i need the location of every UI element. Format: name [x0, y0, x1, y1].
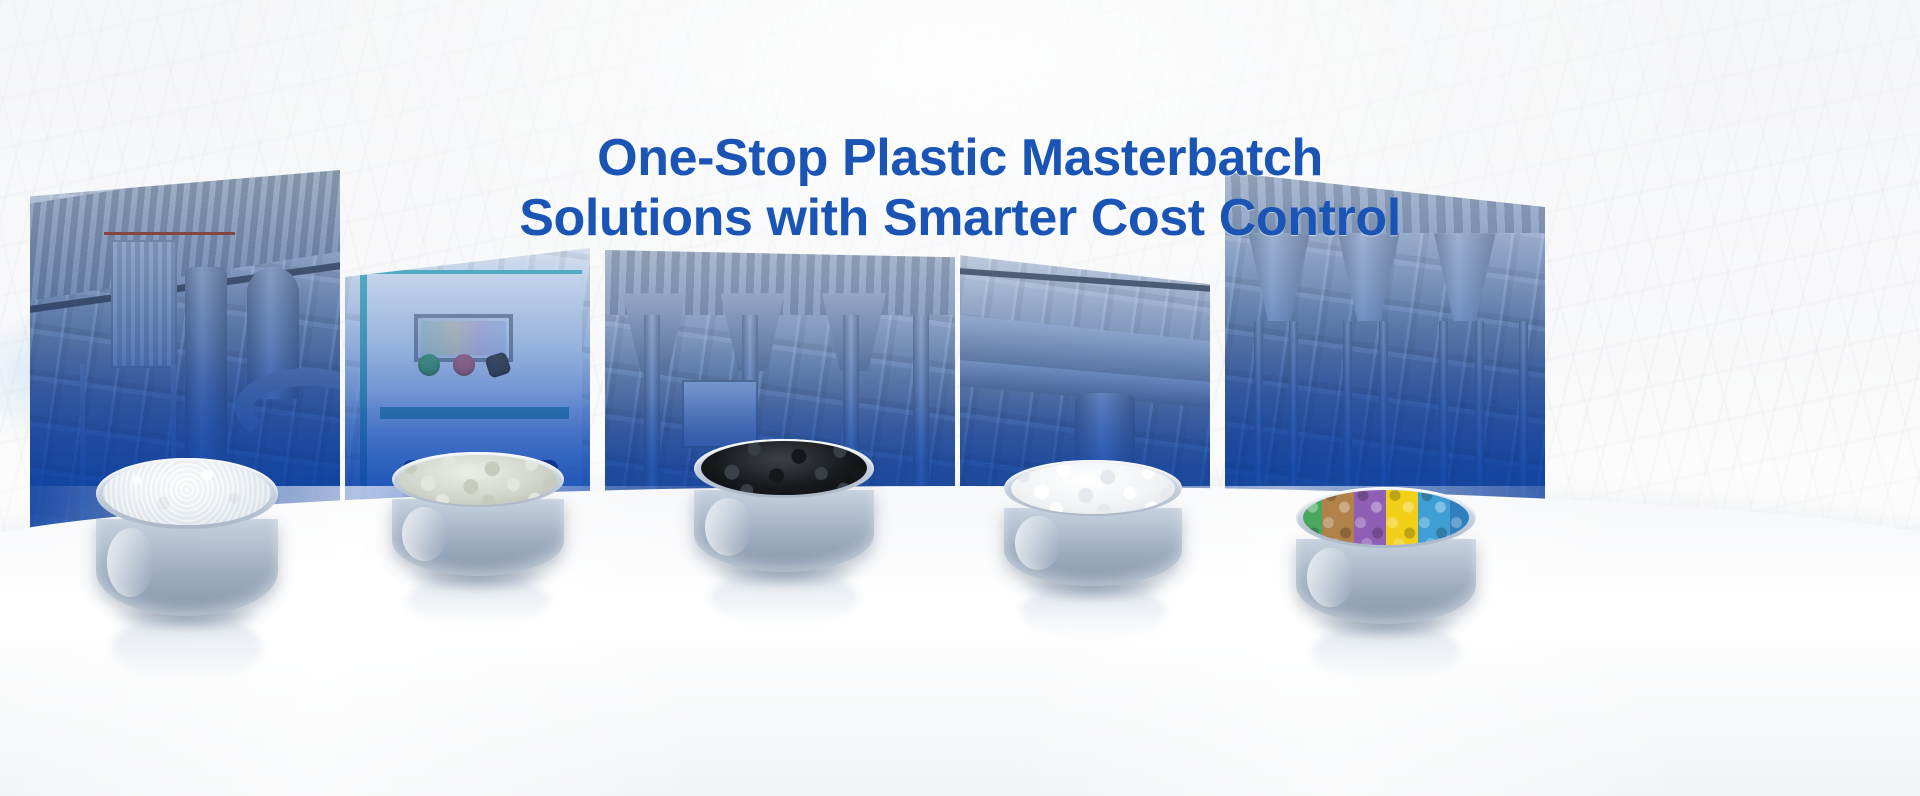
- dish-wall: [694, 490, 874, 572]
- dish-reflection: [112, 614, 261, 681]
- dish-reflection: [407, 575, 548, 628]
- dish-reflection: [1020, 585, 1166, 639]
- dish-grey-filler-pellets: [392, 444, 564, 576]
- black-pellet-content: [701, 441, 867, 495]
- color-stripe-5: [1418, 490, 1450, 545]
- dish-white-powder-filler: [96, 448, 278, 616]
- color-stripe-1: [1303, 490, 1322, 545]
- petri-dish-glass: [392, 444, 564, 576]
- color-stripe-2: [1322, 490, 1354, 545]
- color-stripe-4: [1386, 490, 1418, 545]
- petri-dish-glass: [1296, 478, 1476, 624]
- dish-color-masterbatch-pellets: [1296, 478, 1476, 624]
- dish-wall: [392, 499, 564, 576]
- dish-white-masterbatch-pellets: [1004, 452, 1182, 586]
- petri-dish-glass: [694, 430, 874, 572]
- color-stripe-6: [1450, 490, 1469, 545]
- dish-reflection: [1312, 623, 1460, 681]
- color-pellet-stripes: [1303, 490, 1469, 545]
- headline-line-2: Solutions with Smarter Cost Control: [0, 191, 1920, 245]
- dish-wall: [96, 519, 278, 616]
- page-title: One-Stop Plastic Masterbatch Solutions w…: [0, 131, 1920, 245]
- petri-dish-glass: [96, 448, 278, 616]
- white-pellet-content: [1011, 463, 1175, 514]
- hero-banner: One-Stop Plastic Masterbatch Solutions w…: [0, 0, 1920, 796]
- color-stripe-3: [1354, 490, 1386, 545]
- dish-reflection: [710, 571, 858, 628]
- product-display-table: [0, 486, 1920, 796]
- dish-wall: [1004, 508, 1182, 586]
- petri-dish-glass: [1004, 452, 1182, 586]
- dish-black-masterbatch-pellets: [694, 430, 874, 572]
- color-pellet-content: [1303, 490, 1469, 545]
- headline-line-1: One-Stop Plastic Masterbatch: [0, 131, 1920, 185]
- white-powder-content: [103, 461, 270, 525]
- grey-pellet-content: [399, 455, 557, 505]
- dish-wall: [1296, 539, 1476, 624]
